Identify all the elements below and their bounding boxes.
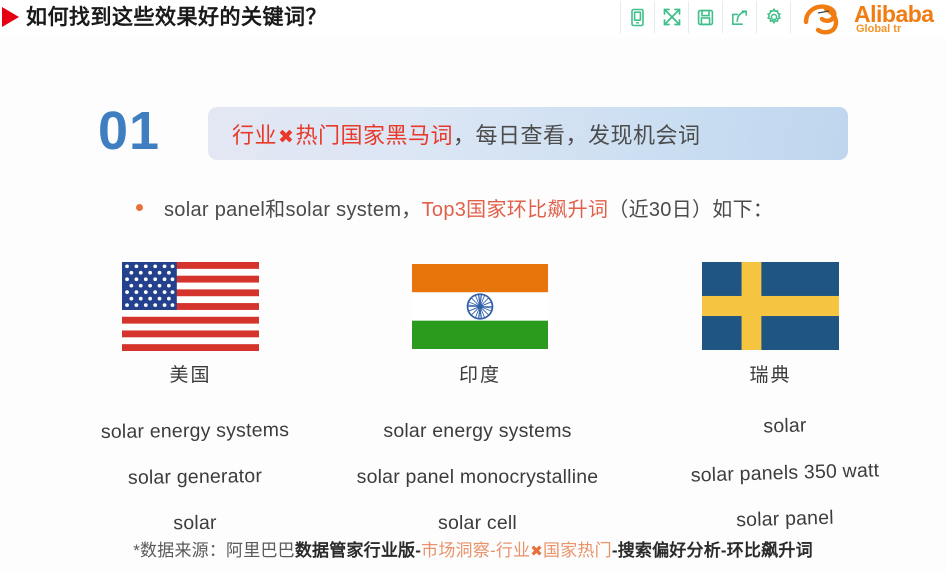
keyword-item: solar [640, 411, 930, 441]
country-label-us: 美国 [122, 360, 259, 387]
bullet-plain-b: （近30日）如下： [608, 199, 773, 221]
section-banner-text: 行业✖热门国家黑马词，每日查看，发现机会词 [208, 118, 700, 150]
app-top-bar: 如何找到这些效果好的关键词？ [0, 0, 946, 38]
footnote-orange-c: 国家热门 [543, 541, 612, 560]
brand-tagline: Global tr [856, 23, 901, 35]
keyword-item: solar [50, 510, 340, 536]
banner-highlight-b: 热门国家黑马词 [295, 123, 453, 148]
bullet-line: solar panel和solar system，Top3国家环比飙升词（近30… [136, 193, 773, 222]
keyword-column-us: solar energy systems solar generator sol… [50, 420, 340, 535]
footnote-prefix: *数据来源：阿里巴巴 [133, 541, 295, 560]
country-label-se: 瑞典 [702, 360, 839, 387]
keyword-item: solar panel [640, 504, 931, 535]
india-flag-icon [412, 264, 548, 349]
alibaba-logo: Alibaba Global tr [796, 0, 946, 40]
footnote-source: *数据来源：阿里巴巴数据管家行业版-市场洞察-行业✖国家热门-搜索偏好分析-环比… [0, 536, 946, 561]
banner-highlight-a: 行业 [232, 123, 277, 148]
banner-cross-icon: ✖ [277, 127, 295, 148]
keyword-item: solar energy systems [50, 418, 340, 444]
keyword-item: solar panel monocrystalline [345, 466, 610, 489]
keyword-item: solar panels 350 watt [640, 458, 931, 489]
section-banner: 行业✖热门国家黑马词，每日查看，发现机会词 [208, 107, 848, 160]
keyword-column-in: solar energy systems solar panel monocry… [345, 420, 610, 535]
footnote-cross-icon: ✖ [530, 543, 543, 560]
banner-rest: ，每日查看，发现机会词 [453, 123, 701, 148]
us-flag-icon [122, 262, 259, 351]
footnote-bold-b: 搜索偏好分析-环比飙升词 [618, 541, 813, 560]
fullscreen-icon[interactable] [655, 1, 689, 33]
settings-gear-icon[interactable] [757, 1, 791, 33]
page-title: 如何找到这些效果好的关键词？ [26, 2, 327, 34]
bullet-dot-icon [136, 204, 143, 211]
play-triangle-icon [2, 7, 19, 27]
footnote-bold-a: 数据管家行业版 [295, 541, 415, 560]
keyword-column-se: solar solar panels 350 watt solar panel [640, 415, 930, 531]
slide-canvas: 01 行业✖热门国家黑马词，每日查看，发现机会词 solar panel和sol… [0, 38, 946, 573]
bullet-plain-a: solar panel和solar system， [164, 199, 422, 221]
toolbar [620, 1, 791, 33]
save-icon[interactable] [689, 1, 723, 33]
bullet-highlight: Top3国家环比飙升词 [422, 199, 609, 221]
keyword-item: solar cell [345, 512, 610, 535]
alibaba-mark-icon [802, 2, 854, 36]
keyword-item: solar energy systems [345, 420, 610, 443]
keyword-item: solar generator [50, 464, 340, 491]
sweden-flag-icon [702, 262, 839, 350]
mobile-preview-icon[interactable] [620, 1, 655, 33]
section-number: 01 [98, 104, 160, 158]
country-label-in: 印度 [412, 360, 548, 387]
share-icon[interactable] [723, 1, 757, 33]
footnote-orange-b: 行业 [496, 541, 530, 560]
bullet-text: solar panel和solar system，Top3国家环比飙升词（近30… [164, 193, 773, 222]
footnote-orange-a: 市场洞察 [421, 541, 490, 560]
